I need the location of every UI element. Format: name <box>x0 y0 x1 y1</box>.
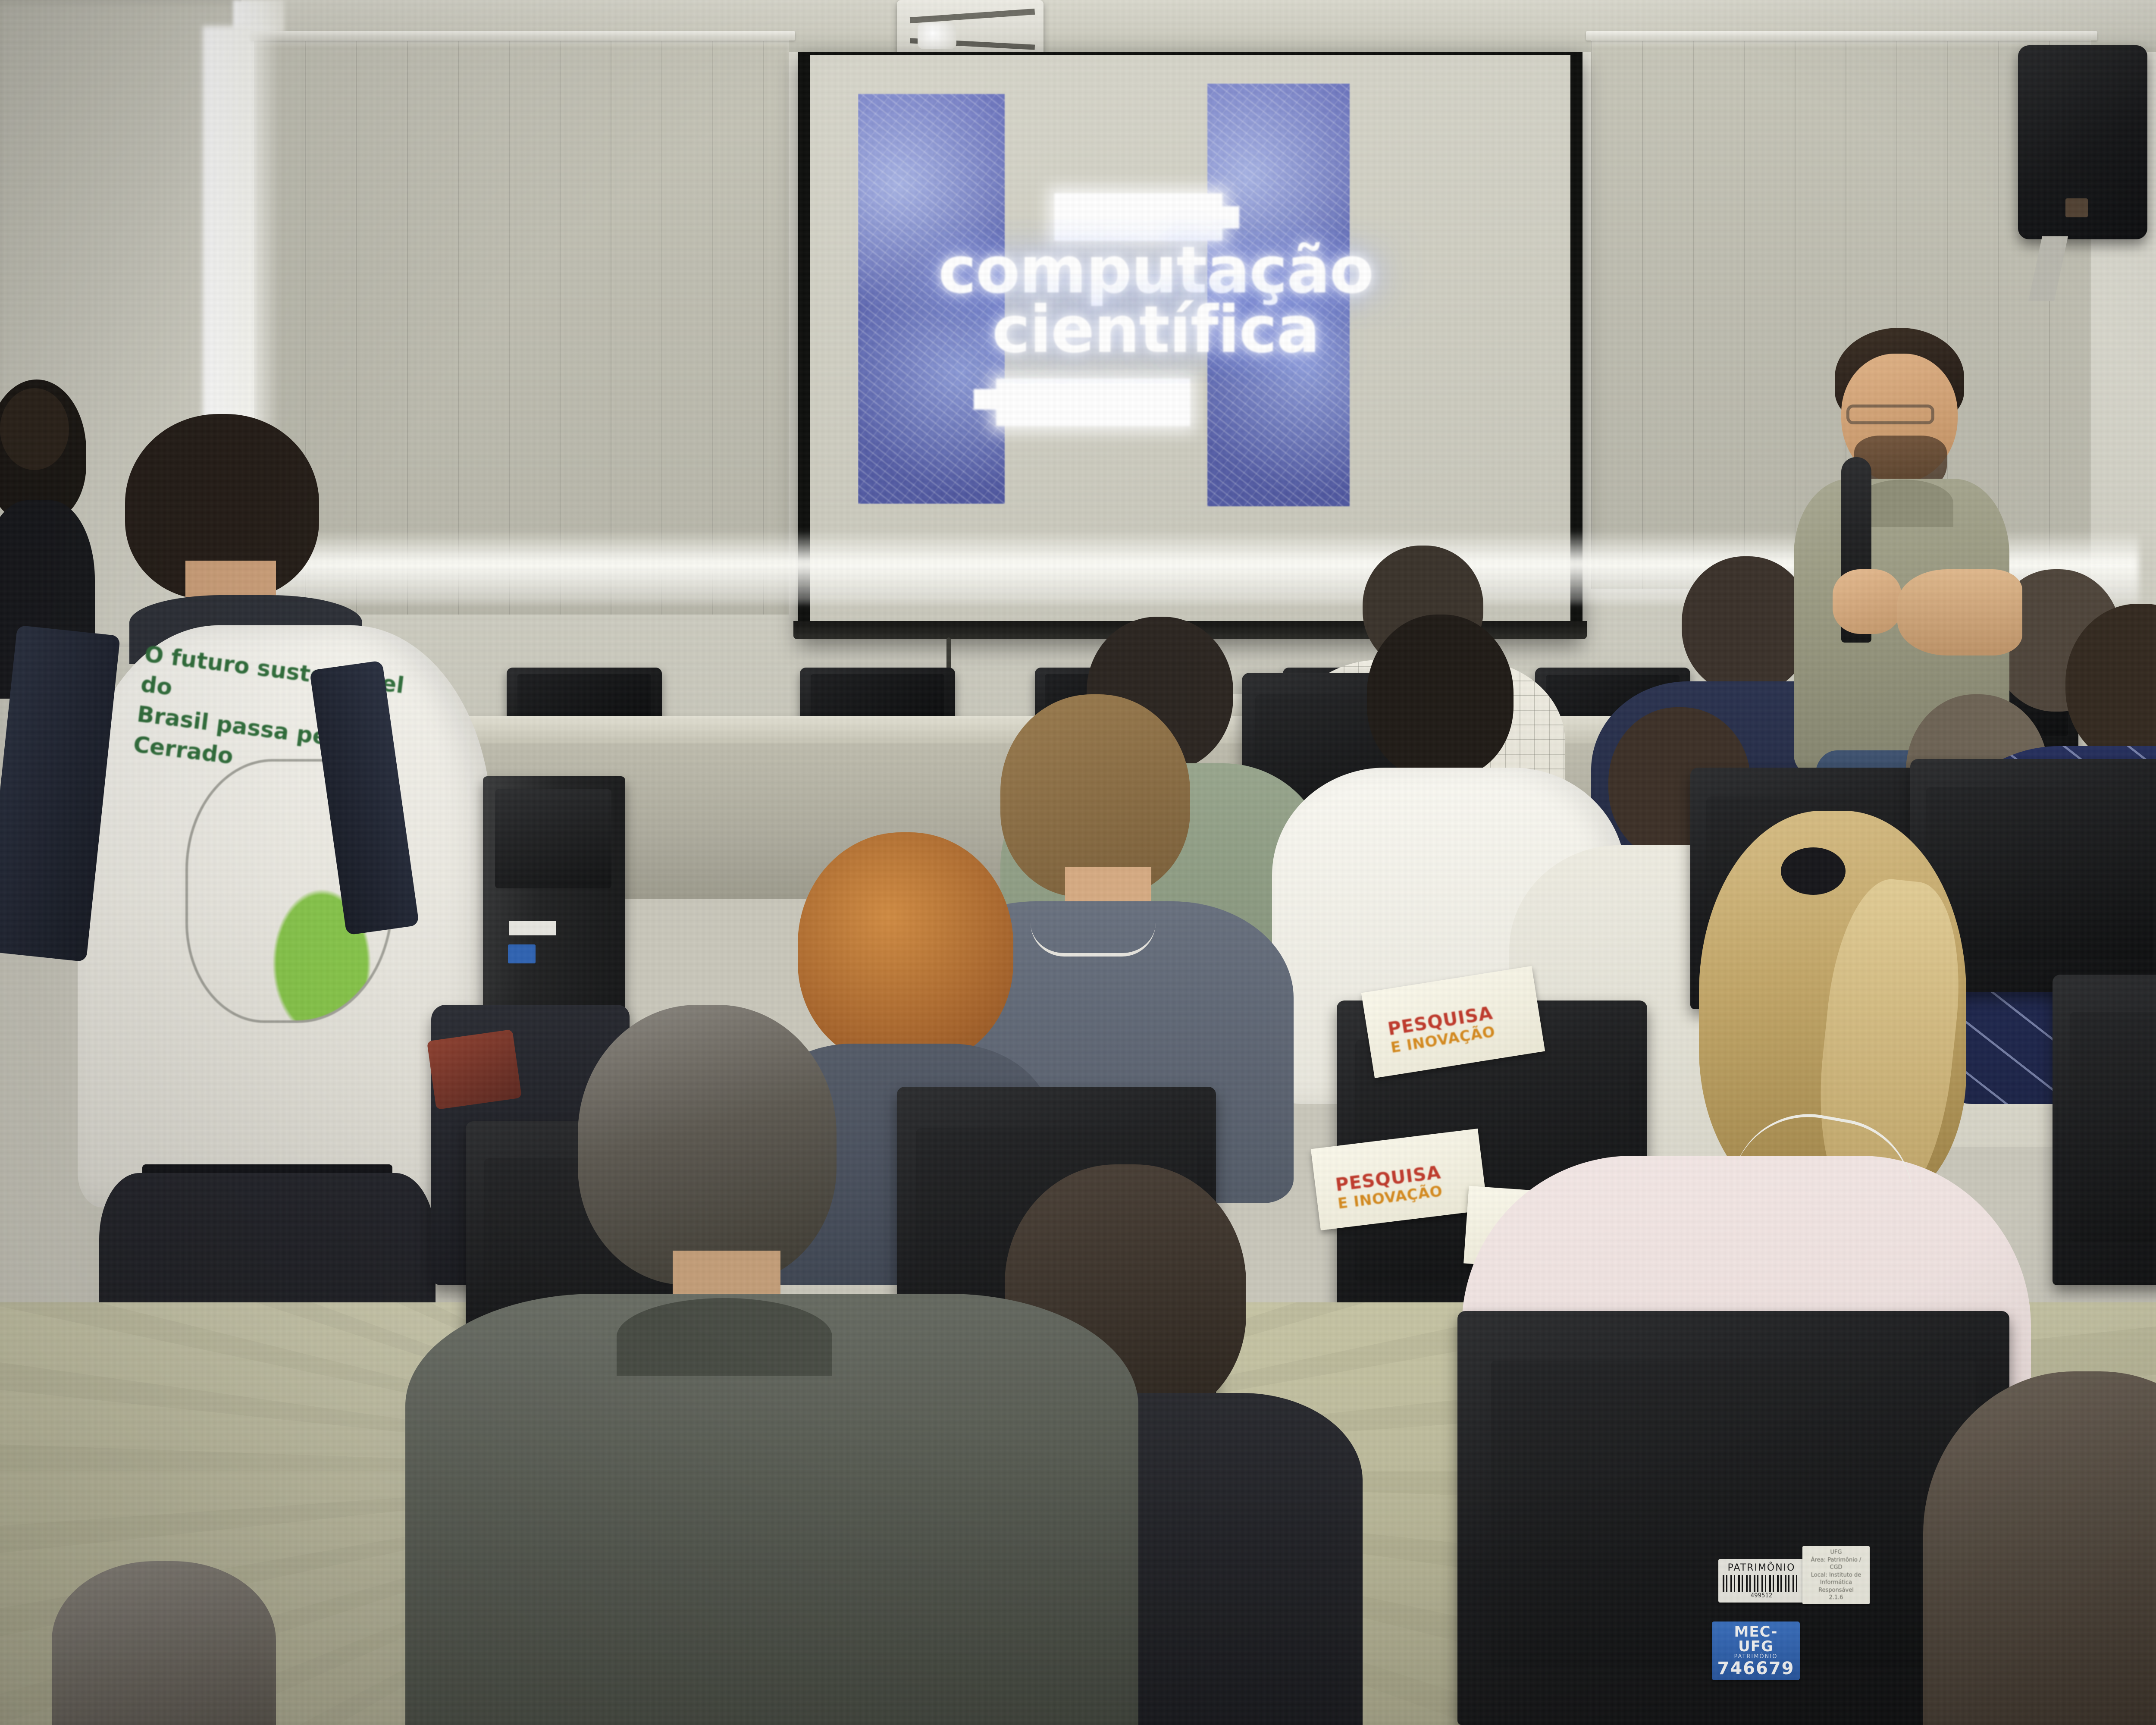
necklace <box>1031 923 1156 957</box>
hair-scrunchie <box>1781 847 1846 895</box>
blind-rail-left <box>249 31 795 41</box>
mecufg-org: MEC-UFG <box>1717 1625 1795 1654</box>
attendee-head <box>52 1561 276 1725</box>
presentation-slide: computação científica <box>858 77 1462 534</box>
pc-asset-label <box>509 921 556 935</box>
attendee-head <box>1367 615 1514 778</box>
slide-redacted-tick-top <box>1216 206 1239 229</box>
patrimonio-label: PATRIMÔNIO 499512 <box>1718 1559 1805 1603</box>
slide-title-line-2: científica <box>927 300 1384 360</box>
patrimonio-number: 499512 <box>1723 1592 1800 1599</box>
inventory-line-4: Responsável <box>1806 1587 1866 1594</box>
handout-wordmark: PESQUISA E INOVAÇÃO <box>1334 1161 1444 1212</box>
inventory-line-1: UFG <box>1806 1549 1866 1556</box>
slide-redacted-tick-bottom <box>974 389 999 410</box>
inventory-line-2: Área: Patrimônio / CGD <box>1806 1556 1866 1571</box>
presenter-hand <box>1833 569 1902 634</box>
inventory-line-3: Local: Instituto de Informática <box>1806 1571 1866 1587</box>
handout-wordmark: PESQUISA E INOVAÇÃO <box>1386 1002 1497 1057</box>
inventory-paper-label: UFG Área: Patrimônio / CGD Local: Instit… <box>1802 1546 1870 1604</box>
office-chair[interactable] <box>2053 975 2156 1285</box>
backpack-patch <box>427 1029 522 1110</box>
attendee-collar <box>617 1298 832 1376</box>
slide-title: computação científica <box>927 241 1384 360</box>
pc-mecufg-label <box>508 944 536 963</box>
inventory-line-5: 2.1.6 <box>1806 1594 1866 1602</box>
barcode-icon <box>1723 1575 1800 1592</box>
attendee-head <box>578 1005 837 1285</box>
pc-drive-bay <box>495 789 611 888</box>
projector-lens <box>918 22 956 49</box>
blind-rail-right <box>1586 31 2097 41</box>
lecture-hall-photo: computação científica <box>0 0 2156 1725</box>
attendee-head <box>798 832 1013 1065</box>
window-blinds-left <box>254 37 789 615</box>
speaker-brand-badge <box>2065 198 2088 217</box>
mecufg-number: 746679 <box>1717 1660 1795 1677</box>
attendee-head <box>0 388 69 470</box>
presenter-glasses-icon <box>1846 405 1934 424</box>
mecufg-asset-label: MEC-UFG PATRIMÔNIO 746679 <box>1712 1621 1800 1680</box>
patrimonio-title: PATRIMÔNIO <box>1723 1562 1800 1573</box>
presenter-arm <box>1897 569 2022 655</box>
slide-redacted-bar-bottom <box>996 379 1190 426</box>
